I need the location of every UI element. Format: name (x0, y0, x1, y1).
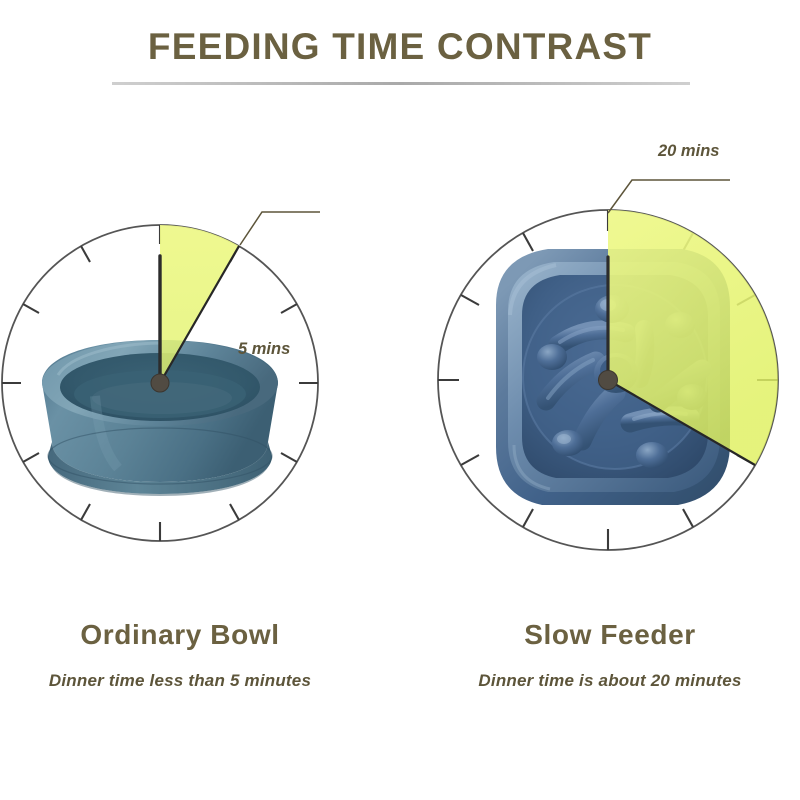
panel-ordinary-bowl: 5 mins (0, 170, 340, 570)
callout-leader-line (608, 180, 730, 213)
page-title-container: FEEDING TIME CONTRAST (0, 28, 800, 67)
ordinary-bowl-clock-graphic (0, 170, 340, 570)
caption-sub-slow-feeder: Dinner time is about 20 minutes (420, 671, 800, 691)
infographic-root: FEEDING TIME CONTRAST (0, 0, 800, 800)
caption-ordinary-bowl: Ordinary Bowl Dinner time less than 5 mi… (0, 620, 360, 691)
title-underline-divider (112, 82, 690, 85)
callout-5-mins: 5 mins (238, 340, 290, 359)
caption-title-slow-feeder: Slow Feeder (420, 620, 800, 651)
page-title: FEEDING TIME CONTRAST (148, 28, 652, 67)
caption-sub-ordinary-bowl: Dinner time less than 5 minutes (0, 671, 360, 691)
callout-leader-line (240, 212, 320, 245)
caption-slow-feeder: Slow Feeder Dinner time is about 20 minu… (420, 620, 800, 691)
slow-feeder-clock-graphic (430, 165, 800, 575)
caption-title-ordinary-bowl: Ordinary Bowl (0, 620, 360, 651)
callout-20-mins: 20 mins (658, 142, 719, 161)
panel-slow-feeder: 20 mins (430, 165, 800, 575)
